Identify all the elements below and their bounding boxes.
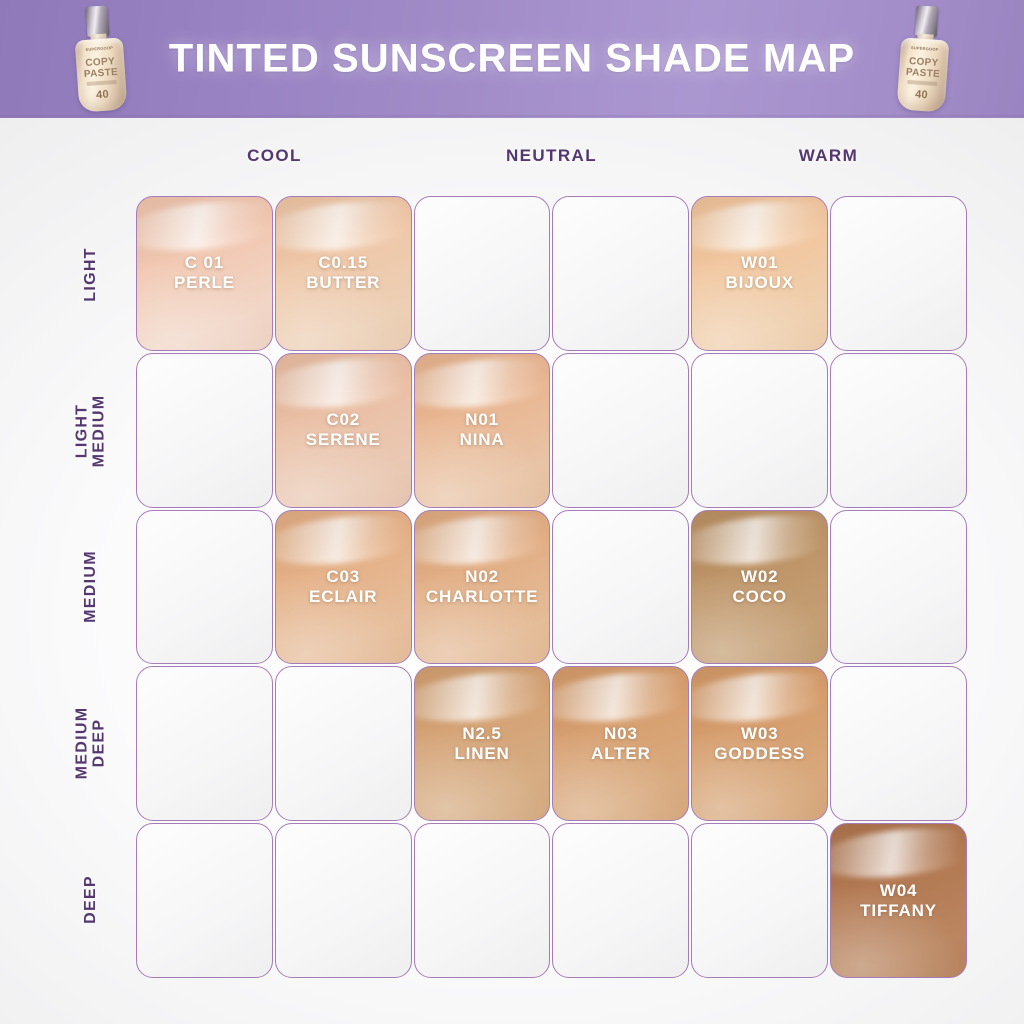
shade-map-page: SUPERGOOP COPY PASTE 40 TINTED SUNSCREEN… [0, 0, 1024, 1024]
row-label-light-medium: LIGHT MEDIUM [54, 352, 126, 508]
shade-swatch-w03[interactable]: W03 GODDESS [691, 666, 828, 821]
shade-swatch-w04[interactable]: W04 TIFFANY [830, 823, 967, 978]
shade-swatch-n03[interactable]: N03 ALTER [552, 666, 689, 821]
shade-swatch-empty[interactable] [136, 823, 273, 978]
shade-swatch-empty[interactable] [136, 666, 273, 821]
shade-swatch-w02[interactable]: W02 COCO [691, 510, 828, 665]
shade-swatch-label: N02 CHARLOTTE [426, 567, 538, 607]
shade-swatch-empty[interactable] [552, 196, 689, 351]
shade-swatch-empty[interactable] [830, 196, 967, 351]
row-label-column: LIGHTLIGHT MEDIUMMEDIUMMEDIUM DEEPDEEP [54, 196, 126, 978]
shade-swatch-empty[interactable] [414, 196, 551, 351]
shade-swatch-label: C03 ECLAIR [309, 567, 377, 607]
shade-swatch-empty[interactable] [691, 353, 828, 508]
row-label-medium-deep: MEDIUM DEEP [54, 665, 126, 821]
shade-swatch-empty[interactable] [552, 510, 689, 665]
shade-swatch-empty[interactable] [136, 510, 273, 665]
bottle-sub-bar [907, 80, 937, 86]
shade-swatch-empty[interactable] [552, 353, 689, 508]
column-header-row: COOLNEUTRALWARM [136, 146, 967, 174]
shade-swatch-empty[interactable] [552, 823, 689, 978]
shade-swatch-label: C0.15 BUTTER [306, 253, 380, 293]
shade-swatch-empty[interactable] [414, 823, 551, 978]
shade-swatch-n25[interactable]: N2.5 LINEN [414, 666, 551, 821]
shade-swatch-empty[interactable] [691, 823, 828, 978]
bottle-body-icon: SUPERGOOP COPY PASTE 40 [896, 37, 949, 112]
shade-swatch-empty[interactable] [830, 666, 967, 821]
row-label-text: MEDIUM DEEP [73, 707, 107, 780]
shade-swatch-label: C02 SERENE [306, 410, 381, 450]
shade-grid: C 01 PERLEC0.15 BUTTERW01 BIJOUXC02 SERE… [136, 196, 967, 978]
shade-swatch-c015[interactable]: C0.15 BUTTER [275, 196, 412, 351]
shade-swatch-label: W03 GODDESS [714, 724, 805, 764]
shade-swatch-c03[interactable]: C03 ECLAIR [275, 510, 412, 665]
shade-swatch-empty[interactable] [136, 353, 273, 508]
shade-swatch-n01[interactable]: N01 NINA [414, 353, 551, 508]
shade-swatch-c01[interactable]: C 01 PERLE [136, 196, 273, 351]
header-banner: SUPERGOOP COPY PASTE 40 TINTED SUNSCREEN… [0, 0, 1024, 118]
shade-swatch-empty[interactable] [275, 823, 412, 978]
shade-swatch-n02[interactable]: N02 CHARLOTTE [414, 510, 551, 665]
column-header-neutral: NEUTRAL [413, 146, 690, 166]
shade-swatch-empty[interactable] [275, 666, 412, 821]
shade-swatch-label: W01 BIJOUX [726, 253, 794, 293]
row-label-light: LIGHT [54, 196, 126, 352]
bottle-cap-icon [915, 5, 939, 36]
bottle-brand-text: SUPERGOOP [901, 44, 949, 52]
shade-swatch-label: C 01 PERLE [174, 253, 235, 293]
shade-swatch-label: N01 NINA [460, 410, 505, 450]
bottle-spf-text: 40 [897, 87, 946, 102]
bottle-spf-text: 40 [78, 87, 127, 102]
product-bottle-right-icon: SUPERGOOP COPY PASTE 40 [892, 4, 955, 114]
shade-swatch-w01[interactable]: W01 BIJOUX [691, 196, 828, 351]
shade-swatch-empty[interactable] [830, 353, 967, 508]
row-label-text: DEEP [82, 875, 99, 924]
row-label-text: LIGHT MEDIUM [73, 394, 107, 467]
column-header-cool: COOL [136, 146, 413, 166]
row-label-text: MEDIUM [82, 551, 99, 624]
shade-swatch-empty[interactable] [830, 510, 967, 665]
bottle-product-name: COPY PASTE [899, 56, 948, 80]
shade-swatch-label: N03 ALTER [591, 724, 651, 764]
shade-swatch-c02[interactable]: C02 SERENE [275, 353, 412, 508]
row-label-medium: MEDIUM [54, 509, 126, 665]
column-header-warm: WARM [690, 146, 967, 166]
row-label-text: LIGHT [82, 247, 99, 302]
shade-swatch-label: N2.5 LINEN [454, 724, 509, 764]
shade-swatch-label: W02 COCO [733, 567, 787, 607]
row-label-deep: DEEP [54, 822, 126, 978]
page-title: TINTED SUNSCREEN SHADE MAP [0, 37, 1024, 82]
shade-swatch-label: W04 TIFFANY [860, 881, 937, 921]
bottle-cap-icon [85, 5, 109, 36]
